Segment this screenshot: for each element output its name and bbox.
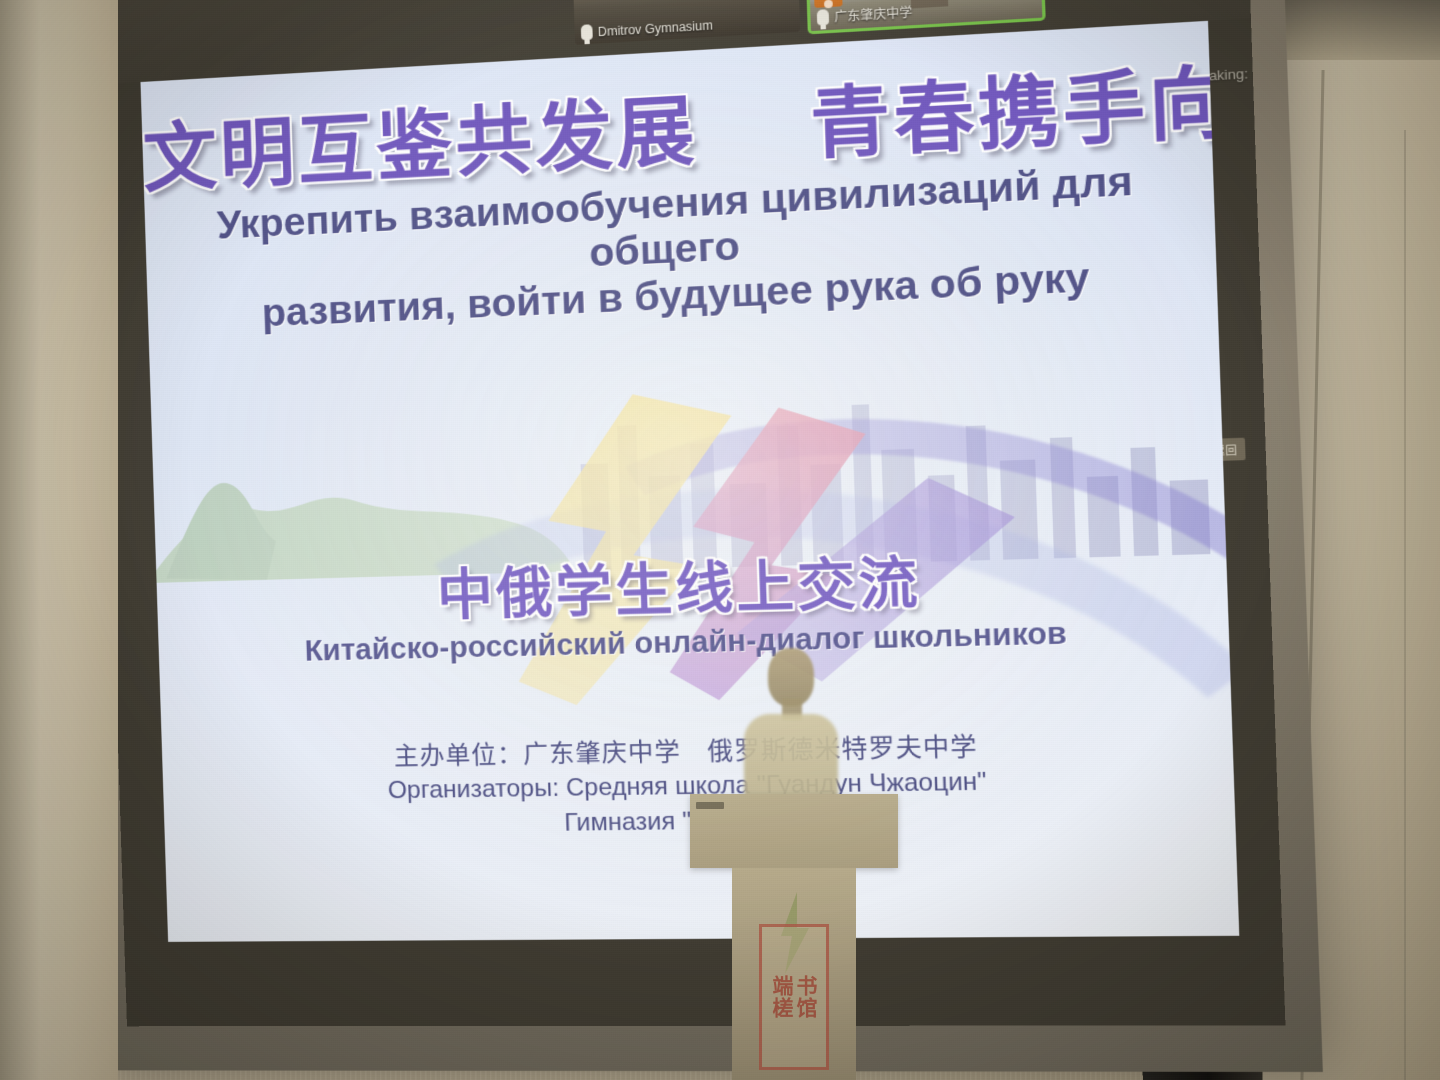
thumbnail-podium (910, 0, 949, 9)
wall-seam-secondary (1404, 130, 1406, 1080)
microphone-icon (581, 24, 593, 40)
title-gap (729, 153, 780, 156)
left-wall-shadow (0, 0, 40, 1080)
lectern-plaque: 端槎 书馆 (759, 924, 829, 1070)
slide-title-chinese-right: 青春携手向未来 (809, 47, 1239, 170)
microphone-icon (817, 9, 829, 25)
plaque-column-2: 书馆 (795, 975, 817, 1019)
lectern-top (690, 794, 898, 868)
plaque-column-1: 端槎 (771, 975, 793, 1019)
projected-conference-photo: – ❐ ✕ Dmitrov Gymnasium (0, 0, 1440, 1080)
lectern: 端槎 书馆 (690, 794, 898, 1080)
